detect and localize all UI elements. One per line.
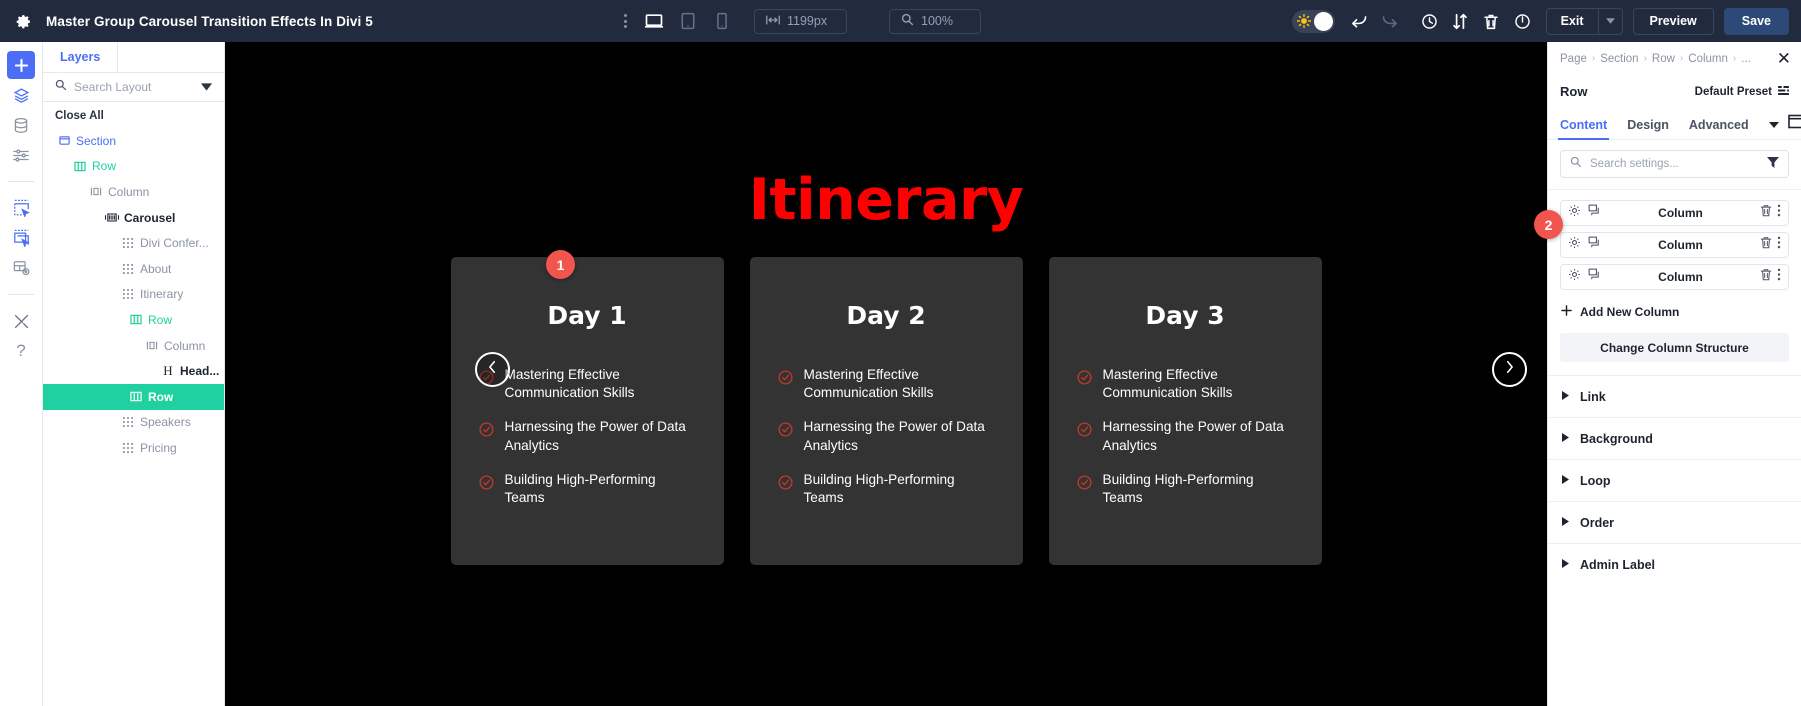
accordion-label: Loop bbox=[1580, 474, 1611, 488]
slide-list: Mastering Effective Communication Skills… bbox=[1077, 366, 1294, 507]
breadcrumb-separator: › bbox=[1644, 53, 1647, 64]
tablet-icon[interactable] bbox=[676, 9, 700, 33]
layer-row-label: Column bbox=[164, 339, 205, 353]
vertical-dots-icon[interactable] bbox=[1777, 268, 1781, 286]
column-item-label: Column bbox=[1601, 270, 1760, 284]
carousel-prev-button[interactable] bbox=[475, 352, 510, 387]
carousel-slide[interactable]: Day 3 Mastering Effective Communication … bbox=[1049, 257, 1322, 565]
add-icon[interactable] bbox=[7, 51, 35, 79]
triangle-right-icon bbox=[1562, 559, 1569, 570]
check-circle-icon bbox=[778, 422, 793, 454]
breadcrumb-separator: › bbox=[1733, 53, 1736, 64]
section-icon bbox=[57, 135, 71, 146]
list-item: Harnessing the Power of Data Analytics bbox=[479, 418, 696, 454]
column-icon bbox=[145, 340, 159, 351]
layer-row-label: Itinerary bbox=[140, 287, 183, 301]
add-new-column-button[interactable]: Add New Column bbox=[1548, 296, 1801, 333]
close-icon[interactable]: ✕ bbox=[1777, 50, 1791, 67]
module-icon bbox=[121, 289, 135, 299]
duplicate-icon[interactable] bbox=[1588, 236, 1601, 254]
power-icon[interactable] bbox=[1507, 6, 1538, 37]
divider bbox=[8, 181, 34, 182]
layers-panel: Layers Search Layout Close All SectionRo… bbox=[43, 42, 225, 706]
layer-row-row[interactable]: Row bbox=[43, 154, 224, 180]
change-structure-wrap: Change Column Structure bbox=[1548, 333, 1801, 375]
list-item-label: Building High-Performing Teams bbox=[804, 471, 995, 507]
accordion-background[interactable]: Background bbox=[1548, 417, 1801, 459]
chevron-down-icon[interactable] bbox=[1599, 9, 1622, 34]
layers-icon[interactable] bbox=[7, 81, 35, 109]
carousel-next-button[interactable] bbox=[1492, 352, 1527, 387]
check-circle-icon bbox=[479, 475, 494, 507]
gear-icon[interactable] bbox=[0, 13, 46, 30]
trash-icon[interactable] bbox=[1760, 268, 1772, 286]
search-icon bbox=[55, 78, 67, 96]
list-item: Harnessing the Power of Data Analytics bbox=[778, 418, 995, 454]
breadcrumb-item[interactable]: ... bbox=[1741, 53, 1751, 65]
layer-row-column[interactable]: Column bbox=[43, 333, 224, 359]
layer-row-label: Speakers bbox=[140, 415, 191, 429]
row-icon bbox=[73, 161, 87, 172]
list-item-label: Mastering Effective Communication Skills bbox=[505, 366, 696, 402]
carousel-slides: Day 1 Mastering Effective Communication … bbox=[225, 257, 1547, 565]
itinerary-heading: Itinerary bbox=[225, 167, 1547, 233]
canvas-preview: Itinerary Day 1 Mastering Effective Comm… bbox=[225, 42, 1547, 706]
check-circle-icon bbox=[778, 370, 793, 402]
layer-row-carousel[interactable]: Carousel bbox=[43, 205, 224, 231]
arrows-up-down-icon[interactable] bbox=[1445, 6, 1476, 37]
breadcrumb-item[interactable]: Column bbox=[1688, 53, 1728, 65]
row-icon bbox=[129, 391, 143, 402]
column-item[interactable]: Column bbox=[1560, 232, 1789, 258]
list-item: Harnessing the Power of Data Analytics bbox=[1077, 418, 1294, 454]
page-title: Master Group Carousel Transition Effects… bbox=[46, 14, 373, 29]
divi-builder-app: Master Group Carousel Transition Effects… bbox=[0, 0, 1801, 706]
layer-row-head[interactable]: HHead... bbox=[43, 358, 224, 384]
breadcrumb-separator: › bbox=[1592, 53, 1595, 64]
presets-icon[interactable] bbox=[7, 254, 35, 282]
module-icon bbox=[121, 443, 135, 453]
slide-heading: Day 3 bbox=[1077, 301, 1294, 330]
accordion-label: Admin Label bbox=[1580, 558, 1655, 572]
panel-layout-icon[interactable] bbox=[1788, 114, 1801, 134]
clock-history-icon[interactable] bbox=[1414, 6, 1445, 37]
layout-search[interactable]: Search Layout bbox=[43, 73, 224, 102]
accordion-link[interactable]: Link bbox=[1548, 375, 1801, 417]
list-item: Mastering Effective Communication Skills bbox=[1077, 366, 1294, 402]
settings-search-placeholder: Search settings... bbox=[1590, 158, 1759, 170]
accordion-label: Order bbox=[1580, 516, 1614, 530]
gear-icon[interactable] bbox=[1568, 268, 1581, 286]
column-item-label: Column bbox=[1601, 238, 1760, 252]
gear-icon[interactable] bbox=[1568, 236, 1581, 254]
preview-button[interactable]: Preview bbox=[1633, 8, 1714, 35]
triangle-right-icon bbox=[1562, 391, 1569, 402]
carousel-slide[interactable]: Day 1 Mastering Effective Communication … bbox=[451, 257, 724, 565]
tab-advanced[interactable]: Advanced bbox=[1689, 118, 1749, 139]
settings-tabbar: ContentDesignAdvanced bbox=[1548, 108, 1801, 140]
duplicate-icon[interactable] bbox=[1588, 268, 1601, 286]
heading-icon: H bbox=[161, 363, 175, 379]
zoom-control[interactable]: 100% bbox=[889, 9, 981, 34]
preset-selector[interactable]: Default Preset bbox=[1695, 86, 1789, 98]
check-circle-icon bbox=[1077, 422, 1092, 454]
list-item: Building High-Performing Teams bbox=[1077, 471, 1294, 507]
layer-row-label: About bbox=[140, 262, 171, 276]
settings-title: Row bbox=[1560, 84, 1587, 99]
layer-row-label: Row bbox=[148, 390, 173, 404]
tab-design[interactable]: Design bbox=[1627, 118, 1669, 139]
accordion-label: Background bbox=[1580, 432, 1653, 446]
slide-heading: Day 1 bbox=[479, 301, 696, 330]
divider bbox=[8, 294, 34, 295]
top-toolbar: Master Group Carousel Transition Effects… bbox=[0, 0, 1801, 42]
triangle-right-icon bbox=[1562, 517, 1569, 528]
settings-search[interactable]: Search settings... bbox=[1560, 150, 1789, 178]
toggle-knob bbox=[1314, 12, 1333, 31]
chevron-left-icon bbox=[487, 360, 498, 379]
desktop-icon[interactable] bbox=[642, 9, 666, 33]
chevron-down-icon[interactable] bbox=[1769, 115, 1779, 133]
exit-button[interactable]: Exit bbox=[1547, 9, 1598, 34]
layer-row-label: Column bbox=[108, 185, 149, 199]
trash-icon[interactable] bbox=[1760, 236, 1772, 254]
carousel-icon bbox=[105, 213, 119, 222]
trash-icon[interactable] bbox=[1476, 6, 1507, 37]
tab-layers[interactable]: Layers bbox=[43, 42, 118, 72]
row-icon bbox=[129, 314, 143, 325]
redo-icon[interactable] bbox=[1375, 6, 1406, 37]
module-icon bbox=[121, 238, 135, 248]
viewport-width-control[interactable]: 1199px bbox=[754, 9, 847, 34]
list-settings-icon[interactable] bbox=[7, 141, 35, 169]
layer-row-label: Row bbox=[92, 159, 116, 173]
layer-row-label: Divi Confer... bbox=[140, 236, 209, 250]
chevron-right-icon bbox=[1504, 360, 1515, 379]
list-item-label: Building High-Performing Teams bbox=[1103, 471, 1294, 507]
column-item[interactable]: Column bbox=[1560, 264, 1789, 290]
list-item: Mastering Effective Communication Skills bbox=[479, 366, 696, 402]
device-controls: 1199px 100% bbox=[618, 9, 981, 34]
layer-tree: SectionRowColumnCarousel Divi Confer... … bbox=[43, 128, 224, 706]
triangle-right-icon bbox=[1562, 433, 1569, 444]
layer-row-row[interactable]: Row bbox=[43, 384, 224, 410]
check-circle-icon bbox=[479, 422, 494, 454]
tools-icon[interactable] bbox=[7, 307, 35, 335]
column-list: Column Column Column bbox=[1548, 190, 1801, 296]
module-icon bbox=[121, 417, 135, 427]
column-icon bbox=[89, 186, 103, 197]
search-icon bbox=[1570, 155, 1582, 173]
list-item-label: Building High-Performing Teams bbox=[505, 471, 696, 507]
check-circle-icon bbox=[1077, 370, 1092, 402]
layer-row-column[interactable]: Column bbox=[43, 179, 224, 205]
zoom-value: 100% bbox=[921, 14, 953, 28]
filter-caret-icon[interactable] bbox=[201, 78, 212, 96]
gear-icon[interactable] bbox=[1568, 204, 1581, 222]
layer-row-label: Row bbox=[148, 313, 172, 327]
duplicate-icon[interactable] bbox=[1588, 204, 1601, 222]
preset-label: Default Preset bbox=[1695, 86, 1772, 98]
save-button[interactable]: Save bbox=[1724, 8, 1789, 35]
accordion-loop[interactable]: Loop bbox=[1548, 459, 1801, 501]
layer-row-divi-confer[interactable]: Divi Confer... bbox=[43, 230, 224, 256]
list-item-label: Mastering Effective Communication Skills bbox=[804, 366, 995, 402]
vertical-dots-icon[interactable] bbox=[618, 14, 632, 28]
breadcrumb-item[interactable]: Section bbox=[1600, 53, 1638, 65]
layer-row-label: Section bbox=[76, 134, 116, 148]
layer-row-label: Head... bbox=[180, 364, 219, 378]
layer-row-itinerary[interactable]: Itinerary bbox=[43, 282, 224, 308]
exit-button-group: Exit bbox=[1546, 8, 1623, 35]
list-item: Building High-Performing Teams bbox=[778, 471, 995, 507]
settings-panel: Page›Section›Row›Column›...✕ Row Default… bbox=[1547, 42, 1801, 706]
preset-icon bbox=[1778, 86, 1789, 98]
plus-icon bbox=[1561, 305, 1572, 319]
close-all-button[interactable]: Close All bbox=[43, 102, 224, 128]
layer-row-speakers[interactable]: Speakers bbox=[43, 410, 224, 436]
layer-row-label: Pricing bbox=[140, 441, 177, 455]
wireframe-select-icon[interactable] bbox=[7, 194, 35, 222]
settings-accordions: Link Background Loop Order Admin Label bbox=[1548, 375, 1801, 585]
list-item: Building High-Performing Teams bbox=[479, 471, 696, 507]
settings-search-wrap: Search settings... bbox=[1548, 140, 1801, 190]
carousel-slide[interactable]: Day 2 Mastering Effective Communication … bbox=[750, 257, 1023, 565]
wireframe-copy-icon[interactable] bbox=[7, 224, 35, 252]
layers-tabbar: Layers bbox=[43, 42, 224, 73]
settings-tab-icons bbox=[1769, 114, 1801, 139]
layer-row-about[interactable]: About bbox=[43, 256, 224, 282]
arrows-horizontal-icon bbox=[766, 14, 780, 29]
list-item-label: Harnessing the Power of Data Analytics bbox=[505, 418, 696, 454]
breadcrumb-item[interactable]: Page bbox=[1560, 53, 1587, 65]
triangle-right-icon bbox=[1562, 475, 1569, 486]
database-icon[interactable] bbox=[7, 111, 35, 139]
filter-icon[interactable] bbox=[1767, 155, 1779, 173]
viewport-width-value: 1199px bbox=[787, 14, 827, 28]
trash-icon[interactable] bbox=[1760, 204, 1772, 222]
workspace: ? Layers Search Layout Close All Section… bbox=[0, 42, 1801, 706]
sun-icon bbox=[1297, 14, 1312, 29]
toolbar-actions: Exit Preview Save bbox=[1292, 6, 1789, 37]
breadcrumb-separator: › bbox=[1680, 53, 1683, 64]
slide-heading: Day 2 bbox=[778, 301, 995, 330]
annotation-badge-2: 2 bbox=[1534, 210, 1563, 239]
accordion-admin-label[interactable]: Admin Label bbox=[1548, 543, 1801, 585]
breadcrumb: Page›Section›Row›Column›...✕ bbox=[1548, 42, 1801, 75]
column-item[interactable]: Column bbox=[1560, 200, 1789, 226]
add-new-column-label: Add New Column bbox=[1580, 305, 1679, 319]
slide-list: Mastering Effective Communication Skills… bbox=[778, 366, 995, 507]
check-circle-icon bbox=[778, 475, 793, 507]
tab-content[interactable]: Content bbox=[1560, 118, 1607, 139]
list-item-label: Harnessing the Power of Data Analytics bbox=[804, 418, 995, 454]
undo-icon[interactable] bbox=[1344, 6, 1375, 37]
column-item-label: Column bbox=[1601, 206, 1760, 220]
list-item-label: Mastering Effective Communication Skills bbox=[1103, 366, 1294, 402]
theme-toggle[interactable] bbox=[1292, 10, 1335, 33]
layer-row-row[interactable]: Row bbox=[43, 307, 224, 333]
layer-row-section[interactable]: Section bbox=[43, 128, 224, 154]
breadcrumb-item[interactable]: Row bbox=[1652, 53, 1675, 65]
help-glyph: ? bbox=[16, 341, 25, 361]
layout-search-placeholder: Search Layout bbox=[74, 80, 194, 94]
phone-icon[interactable] bbox=[710, 9, 734, 33]
layer-row-label: Carousel bbox=[124, 211, 175, 225]
check-circle-icon bbox=[1077, 475, 1092, 507]
accordion-order[interactable]: Order bbox=[1548, 501, 1801, 543]
annotation-badge-1: 1 bbox=[546, 250, 575, 279]
settings-header: Row Default Preset bbox=[1548, 75, 1801, 108]
change-column-structure-button[interactable]: Change Column Structure bbox=[1560, 333, 1789, 362]
list-item: Mastering Effective Communication Skills bbox=[778, 366, 995, 402]
accordion-label: Link bbox=[1580, 390, 1606, 404]
module-icon bbox=[121, 264, 135, 274]
vertical-dots-icon[interactable] bbox=[1777, 204, 1781, 222]
left-rail: ? bbox=[0, 42, 43, 706]
help-icon[interactable]: ? bbox=[7, 337, 35, 365]
list-item-label: Harnessing the Power of Data Analytics bbox=[1103, 418, 1294, 454]
vertical-dots-icon[interactable] bbox=[1777, 236, 1781, 254]
magnifier-icon bbox=[901, 13, 914, 29]
layer-row-pricing[interactable]: Pricing bbox=[43, 435, 224, 461]
slide-list: Mastering Effective Communication Skills… bbox=[479, 366, 696, 507]
